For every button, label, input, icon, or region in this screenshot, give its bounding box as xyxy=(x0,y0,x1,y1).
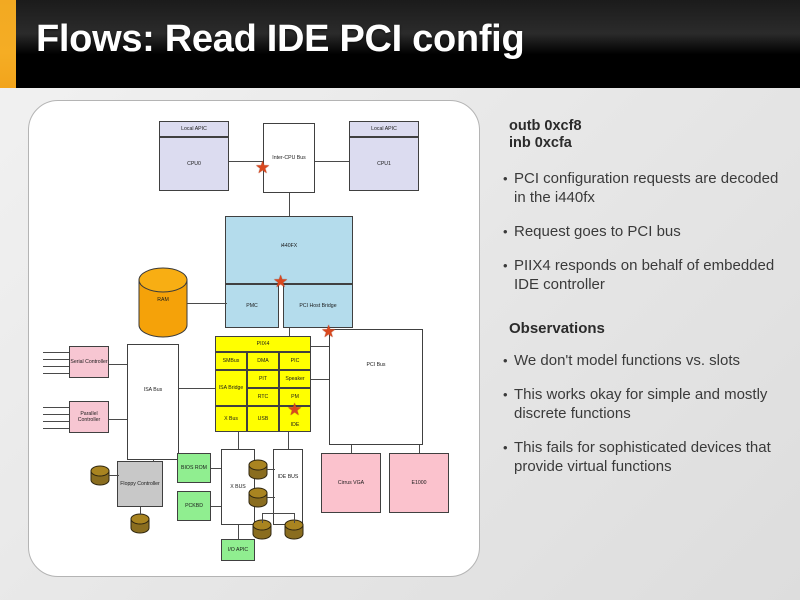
node-pic: PIC xyxy=(279,352,311,370)
connector-serial-1 xyxy=(43,352,69,353)
node-floppy-controller: Floppy Controller xyxy=(117,461,163,507)
bullet-text: PIIX4 responds on behalf of embedded IDE… xyxy=(514,256,791,294)
connector-piix4-pcibus xyxy=(311,379,329,380)
bullet-glyph: • xyxy=(503,351,514,370)
bullet-glyph: • xyxy=(503,222,514,241)
node-cpu0: CPU0 xyxy=(159,137,229,191)
list-item: • Request goes to PCI bus xyxy=(503,222,791,241)
command-line-1: outb 0xcf8 xyxy=(509,118,791,135)
node-i440fx: i440FX xyxy=(225,216,353,284)
node-dma: DMA xyxy=(247,352,279,370)
node-ram-label: RAM xyxy=(137,297,189,303)
node-pit: PIT xyxy=(247,370,279,388)
bullet-glyph: • xyxy=(503,169,514,207)
drive-icon-floppy-bottom xyxy=(129,513,151,535)
connector-xbus-ioapic xyxy=(238,525,239,539)
star-marker-pci-bus: ★ xyxy=(321,323,336,340)
node-usb: USB xyxy=(247,406,279,432)
list-item: • PCI configuration requests are decoded… xyxy=(503,169,791,207)
connector-ide-drive-2 xyxy=(267,497,275,498)
connector-ide-drive-3 xyxy=(262,513,263,523)
connector-serial-2 xyxy=(43,359,69,360)
node-rtc: RTC xyxy=(247,388,279,406)
connector-bios-xbus xyxy=(211,468,221,469)
node-piix4: PIIX4 xyxy=(215,336,311,352)
connector-ram-pmc xyxy=(187,303,227,304)
connector-idebus-lower xyxy=(262,513,294,514)
node-cpu1: CPU1 xyxy=(349,137,419,191)
connector-pckbd-xbus xyxy=(211,506,221,507)
diagram-card: Local APIC CPU0 Local APIC CPU1 Inter-CP… xyxy=(28,100,480,577)
node-inter-cpu-bus: Inter-CPU Bus xyxy=(263,123,315,193)
star-marker-inter-cpu-bus: ★ xyxy=(255,159,270,176)
architecture-diagram: Local APIC CPU0 Local APIC CPU1 Inter-CP… xyxy=(29,101,479,576)
node-cirrus-vga: Cirrus VGA xyxy=(321,453,381,513)
connector-floppy-bottom xyxy=(140,507,141,515)
bullet-glyph: • xyxy=(503,256,514,294)
drive-icon-ide-1 xyxy=(247,459,269,481)
observations-heading: Observations xyxy=(509,320,791,337)
connector-parallel-isabus xyxy=(109,419,129,420)
observations-list: • We don't model functions vs. slots • T… xyxy=(503,351,791,476)
slide: Flows: Read IDE PCI config Local APIC CP… xyxy=(0,0,800,600)
node-ram-cylinder xyxy=(137,267,189,339)
node-io-apic: I/O APIC xyxy=(221,539,255,561)
connector-isabus-floppy xyxy=(153,460,154,462)
connector-floppy-left xyxy=(109,475,119,476)
bullet-text: This works okay for simple and mostly di… xyxy=(514,385,791,423)
connector-piix4-xbus xyxy=(238,432,239,449)
flow-bullet-list: • PCI configuration requests are decoded… xyxy=(503,169,791,294)
node-pci-bus: PCI Bus xyxy=(329,329,423,445)
node-e1000: E1000 xyxy=(389,453,449,513)
connector-cpu1-bus xyxy=(315,161,349,162)
node-parallel-controller: Parallel Controller xyxy=(69,401,109,433)
bullet-glyph: • xyxy=(503,438,514,476)
node-local-apic-0: Local APIC xyxy=(159,121,229,137)
connector-bus-i440fx xyxy=(289,193,290,216)
page-title: Flows: Read IDE PCI config xyxy=(36,18,524,61)
connector-parallel-4 xyxy=(43,428,69,429)
right-text-column: outb 0xcf8 inb 0xcfa • PCI configuration… xyxy=(503,118,791,491)
node-pci-host-bridge: PCI Host Bridge xyxy=(283,284,353,328)
node-serial-controller: Serial Controller xyxy=(69,346,109,378)
bullet-text: PCI configuration requests are decoded i… xyxy=(514,169,791,207)
connector-ide-drive-1 xyxy=(267,469,275,470)
connector-ide-drive-4 xyxy=(294,513,295,523)
list-item: • We don't model functions vs. slots xyxy=(503,351,791,370)
bullet-glyph: • xyxy=(503,385,514,423)
connector-isabus-piix4 xyxy=(179,388,215,389)
bullet-text: This fails for sophisticated devices tha… xyxy=(514,438,791,476)
star-marker-ide: ★ xyxy=(287,401,302,418)
header-accent-bar xyxy=(0,0,16,88)
bullet-text: Request goes to PCI bus xyxy=(514,222,791,241)
slide-header: Flows: Read IDE PCI config xyxy=(0,0,800,88)
connector-parallel-1 xyxy=(43,407,69,408)
drive-icon-floppy-left xyxy=(89,465,111,487)
connector-parallel-2 xyxy=(43,414,69,415)
connector-serial-4 xyxy=(43,373,69,374)
connector-serial-isabus xyxy=(109,364,129,365)
node-speaker: Speaker xyxy=(279,370,311,388)
node-local-apic-1: Local APIC xyxy=(349,121,419,137)
node-pckbd: PCKBD xyxy=(177,491,211,521)
node-bios-rom: BIOS ROM xyxy=(177,453,211,483)
connector-pcibus-vga xyxy=(351,445,352,453)
list-item: • This works okay for simple and mostly … xyxy=(503,385,791,423)
connector-serial-3 xyxy=(43,366,69,367)
bullet-text: We don't model functions vs. slots xyxy=(514,351,791,370)
star-marker-pci-host-bridge: ★ xyxy=(273,273,288,290)
list-item: • PIIX4 responds on behalf of embedded I… xyxy=(503,256,791,294)
list-item: • This fails for sophisticated devices t… xyxy=(503,438,791,476)
node-smbus: SMBus xyxy=(215,352,247,370)
command-line-2: inb 0xcfa xyxy=(509,135,791,152)
node-xbus-cell: X Bus xyxy=(215,406,247,432)
node-pmc: PMC xyxy=(225,284,279,328)
connector-ide-idebus xyxy=(288,432,289,449)
connector-pcibus-e1000 xyxy=(419,445,420,453)
drive-icon-ide-2 xyxy=(247,487,269,509)
node-isa-bus: ISA Bus xyxy=(127,344,179,460)
connector-parallel-3 xyxy=(43,421,69,422)
node-isa-bridge: ISA Bridge xyxy=(215,370,247,406)
